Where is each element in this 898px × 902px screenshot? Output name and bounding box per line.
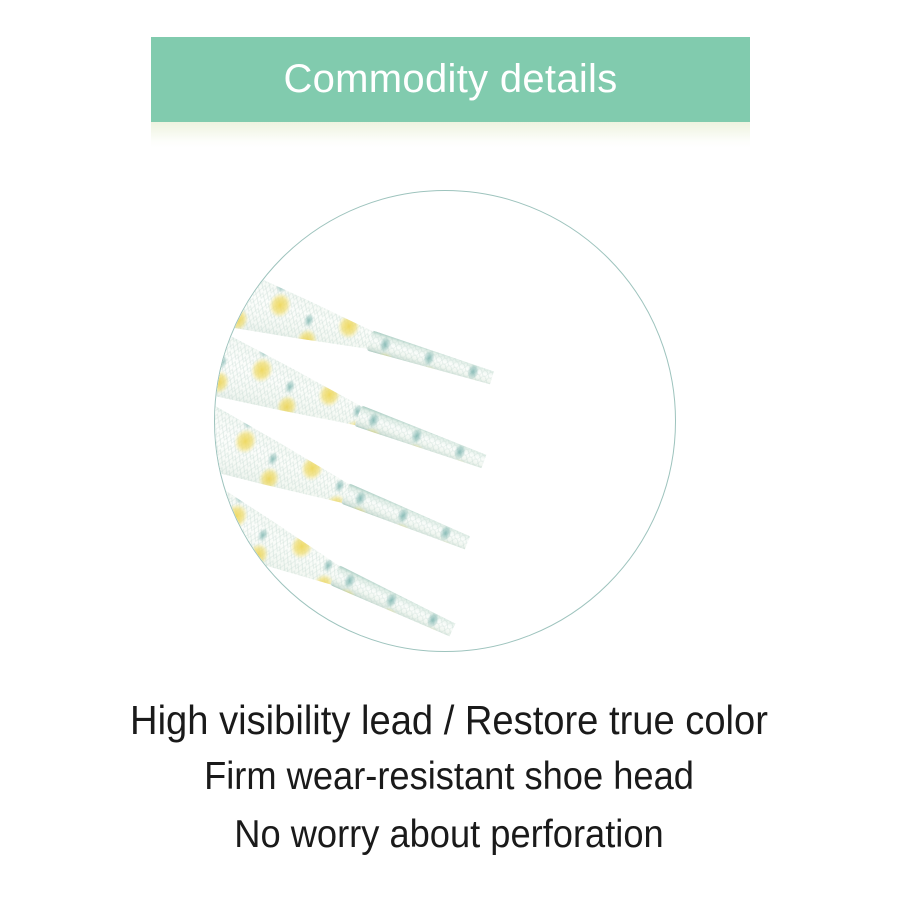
feature-line-2: Firm wear-resistant shoe head (31, 748, 866, 806)
product-photo-circle (214, 190, 676, 652)
lace-rolled-tip (367, 330, 496, 388)
section-header-banner: Commodity details (151, 37, 750, 148)
page-title: Commodity details (151, 37, 750, 122)
feature-line-1: High visibility lead / Restore true colo… (31, 692, 866, 748)
feature-text-block: High visibility lead / Restore true colo… (0, 692, 898, 864)
product-photo-image (214, 190, 676, 652)
pineapple-print (367, 330, 496, 388)
banner-fade-strip (151, 122, 750, 148)
pineapple-print (330, 565, 457, 640)
product-detail-page: Commodity details (0, 0, 898, 902)
lace-rolled-tip (330, 565, 457, 640)
feature-line-3: No worry about perforation (31, 806, 866, 864)
